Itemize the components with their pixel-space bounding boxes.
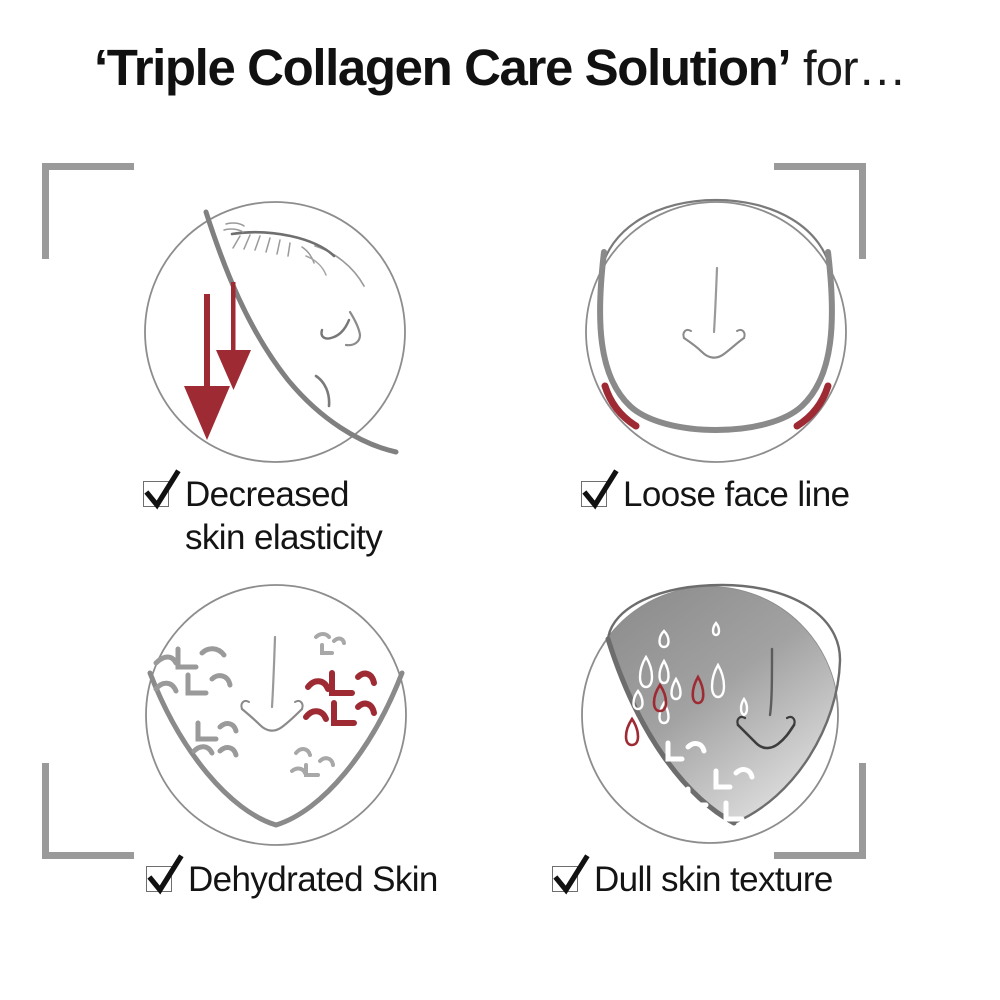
checkbox-dull-skin-texture[interactable] [552, 864, 582, 894]
dry-cracked-skin-face-icon [120, 575, 440, 865]
checkbox-loose-face-line[interactable] [581, 479, 611, 509]
check-icon [145, 855, 187, 899]
bracket-arm-vertical [42, 763, 49, 859]
concern-item-dull-skin-texture [560, 575, 880, 875]
dull-shaded-face-icon [560, 575, 880, 865]
dryness-marks-gray [156, 649, 236, 755]
caption-line-1: Dull skin texture [594, 860, 833, 899]
page-title-suffix: for… [790, 42, 906, 96]
caption-loose-face-line: Loose face line [581, 474, 849, 517]
check-icon [142, 470, 184, 514]
page-title: ‘Triple Collagen Care Solution’ for… [0, 38, 1000, 97]
dryness-marks-red [306, 673, 374, 723]
concern-item-decreased-skin-elasticity [120, 190, 440, 490]
caption-line-1: Loose face line [623, 475, 849, 514]
bracket-arm-horizontal [774, 163, 866, 170]
check-icon [580, 470, 622, 514]
bracket-arm-horizontal [42, 163, 134, 170]
checkbox-decreased-skin-elasticity[interactable] [143, 479, 173, 509]
page-title-quoted: ‘Triple Collagen Care Solution’ [94, 39, 790, 96]
caption-line-1: Dehydrated Skin [188, 860, 438, 899]
caption-text: Dehydrated Skin [188, 859, 438, 902]
checkbox-dehydrated-skin[interactable] [146, 864, 176, 894]
concern-item-dehydrated-skin [120, 575, 440, 875]
caption-decreased-skin-elasticity: Decreased skin elasticity [143, 474, 382, 559]
front-face-jawline-icon [560, 190, 880, 480]
caption-dehydrated-skin: Dehydrated Skin [146, 859, 438, 902]
sagging-arrow-long [184, 294, 230, 440]
concern-item-loose-face-line [560, 190, 880, 490]
sagging-arrow-short [216, 282, 251, 390]
check-icon [551, 855, 593, 899]
caption-text: Loose face line [623, 474, 849, 517]
side-profile-face-with-down-arrows-icon [120, 190, 440, 480]
caption-line-2: skin elasticity [185, 517, 382, 560]
caption-text: Dull skin texture [594, 859, 833, 902]
bracket-arm-vertical [42, 163, 49, 259]
caption-dull-skin-texture: Dull skin texture [552, 859, 833, 902]
caption-line-1: Decreased [185, 475, 349, 514]
caption-text: Decreased skin elasticity [185, 474, 382, 559]
